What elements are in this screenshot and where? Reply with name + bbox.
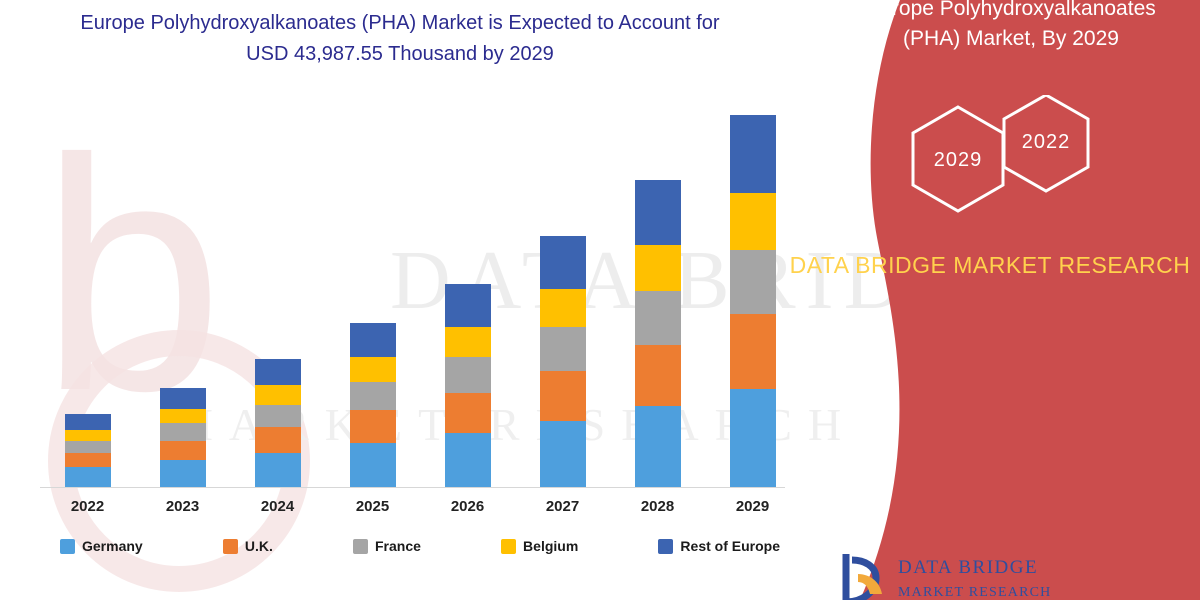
bar-segment [160,423,206,440]
x-axis-tick-label: 2029 [705,498,800,515]
bar-segment [730,115,776,193]
bar-segment [540,371,586,421]
x-axis-tick-label: 2022 [40,498,135,515]
bar-segment [635,345,681,406]
page-title: Europe Polyhydroxyalkanoates (PHA) Marke… [60,8,740,70]
legend-label: Germany [82,538,143,554]
legend-swatch [60,539,75,554]
legend-label: U.K. [245,538,273,554]
bar-column [40,95,135,487]
bar-segment [65,453,111,468]
bar-segment [65,441,111,453]
legend-item: U.K. [223,538,273,554]
stacked-bar-chart [40,95,800,487]
x-axis-labels: 20222023202420252026202720282029 [40,498,800,515]
bar-segment [65,467,111,487]
bar-column [515,95,610,487]
bar-column [135,95,230,487]
legend-swatch [353,539,368,554]
x-axis-tick-label: 2027 [515,498,610,515]
bar-column [420,95,515,487]
bar-segment [445,327,491,358]
bar-segment [635,245,681,292]
x-axis-tick-label: 2025 [325,498,420,515]
bar-segment [635,180,681,245]
x-axis-tick-label: 2023 [135,498,230,515]
legend-item: Belgium [501,538,578,554]
bar-column [230,95,325,487]
hex-label-2029: 2029 [914,149,1002,172]
bar-segment [445,357,491,392]
company-logo: DATA BRIDGE MARKET RESEARCH [840,552,1080,600]
bar-segment [255,427,301,453]
hexagon-group: 2029 2022 [898,95,1118,245]
legend-item: Rest of Europe [658,538,780,554]
hex-label-2022: 2022 [1004,131,1088,154]
legend-label: France [375,538,421,554]
legend-label: Rest of Europe [680,538,780,554]
bar-segment [445,284,491,327]
legend-item: France [353,538,421,554]
bar-segment [635,291,681,345]
bar-segment [540,421,586,487]
bar-segment [730,250,776,315]
bar-segment [350,357,396,381]
bar-segment [730,314,776,389]
bar-segment [160,388,206,409]
panel-title: Europe Polyhydroxyalkanoates (PHA) Marke… [846,0,1176,54]
bar-segment [255,405,301,427]
x-axis-tick-label: 2028 [610,498,705,515]
legend-swatch [658,539,673,554]
bar-segment [160,441,206,461]
bar-segment [65,414,111,430]
logo-text: DATA BRIDGE MARKET RESEARCH [898,556,1051,600]
bar-segment [540,289,586,327]
bar-column [705,95,800,487]
bar-segment [540,236,586,289]
bar-segment [540,327,586,371]
bar-segment [350,323,396,357]
bar-segment [730,193,776,249]
bar-segment [65,430,111,441]
x-axis-tick-label: 2026 [420,498,515,515]
bar-segment [160,409,206,424]
bar-segment [160,460,206,487]
legend-label: Belgium [523,538,578,554]
bar-column [325,95,420,487]
legend-swatch [223,539,238,554]
bar-segment [635,406,681,487]
bar-segment [350,382,396,410]
bar-segment [255,453,301,487]
logo-line2: MARKET RESEARCH [898,585,1051,600]
logo-line1: DATA BRIDGE [898,557,1038,578]
chart-legend: GermanyU.K.FranceBelgiumRest of Europe [60,538,780,554]
legend-item: Germany [60,538,143,554]
bar-segment [255,385,301,405]
bar-segment [350,410,396,443]
bar-column [610,95,705,487]
x-axis-tick-label: 2024 [230,498,325,515]
legend-swatch [501,539,516,554]
bar-segment [445,433,491,487]
bar-segment [730,389,776,487]
x-axis-line [40,487,785,488]
bar-segment [255,359,301,386]
bar-segment [350,443,396,487]
bar-segment [445,393,491,433]
